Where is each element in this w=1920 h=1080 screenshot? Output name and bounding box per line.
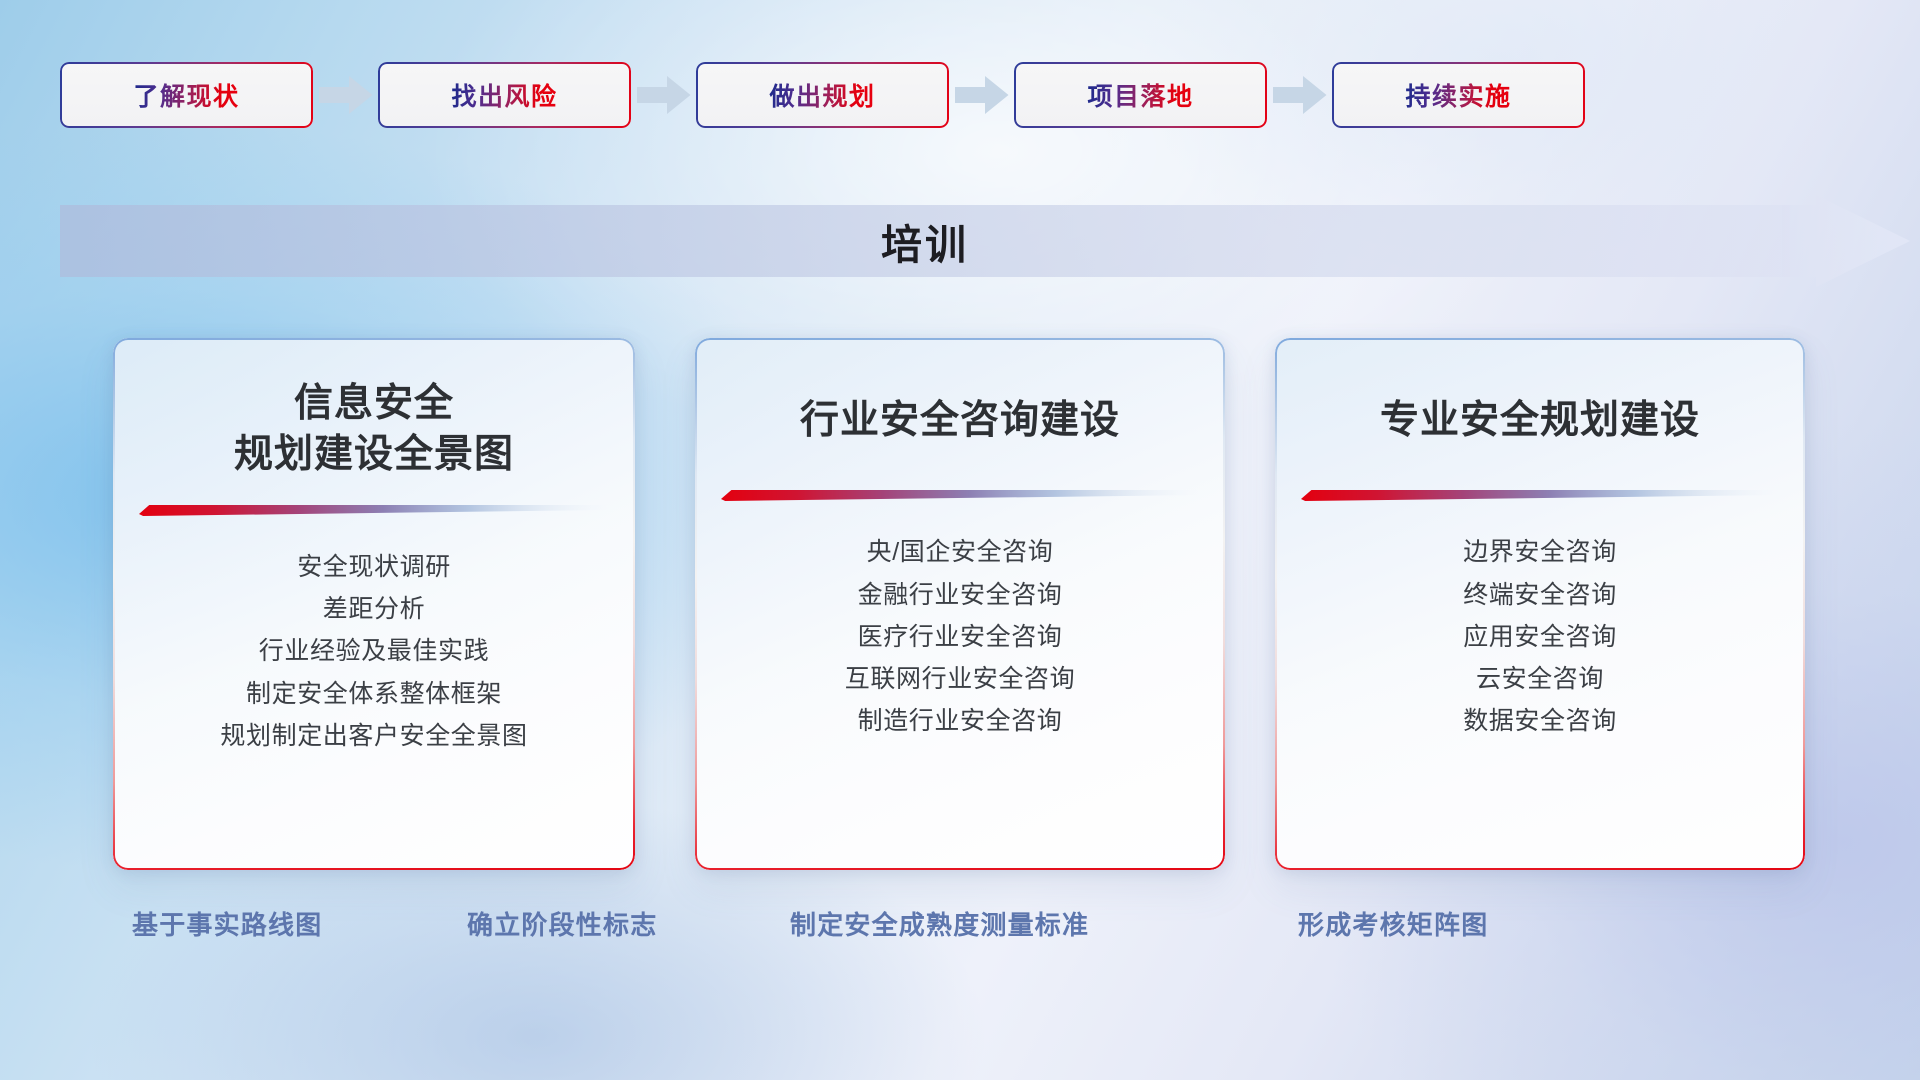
card-list-item: 金融行业安全咨询 xyxy=(858,575,1063,616)
card-title: 专业安全规划建设 xyxy=(1380,395,1700,446)
process-step-0[interactable]: 了解现状 xyxy=(60,62,313,128)
process-step-2[interactable]: 做出规划 xyxy=(696,62,949,128)
banner-arrow-tip-icon xyxy=(1782,195,1912,287)
footnote-1: 确立阶段性标志 xyxy=(467,905,657,942)
card-row: 信息安全 规划建设全景图 xyxy=(0,338,1920,878)
footnote-0: 基于事实路线图 xyxy=(132,905,322,942)
card-list-item: 互联网行业安全咨询 xyxy=(845,659,1075,700)
card-title: 信息安全 规划建设全景图 xyxy=(234,378,514,481)
training-banner: 培训 xyxy=(60,205,1850,277)
card-list-item: 规划制定出客户安全全景图 xyxy=(220,716,527,757)
gradient-divider-icon xyxy=(721,488,1199,502)
process-step-4[interactable]: 持续实施 xyxy=(1332,62,1585,128)
gradient-divider-icon xyxy=(1301,488,1779,502)
card-list-item: 安全现状调研 xyxy=(297,547,451,588)
footnote-row: 基于事实路线图 确立阶段性标志 制定安全成熟度测量标准 形成考核矩阵图 xyxy=(0,905,1920,965)
card-list-item: 行业经验及最佳实践 xyxy=(259,631,489,672)
process-step-label: 了解现状 xyxy=(133,77,239,113)
card-list-item: 边界安全咨询 xyxy=(1463,532,1617,573)
slide-stage: 了解现状 找出风险 做出规划 项目落地 xyxy=(0,0,1920,1080)
card-title: 行业安全咨询建设 xyxy=(800,395,1120,446)
process-step-label: 做出规划 xyxy=(769,77,875,113)
card-list-item: 医疗行业安全咨询 xyxy=(858,617,1063,658)
card-list-item: 云安全咨询 xyxy=(1476,659,1604,700)
card-list-item: 数据安全咨询 xyxy=(1463,701,1617,742)
process-step-label: 持续实施 xyxy=(1405,77,1511,113)
card-list-item: 制造行业安全咨询 xyxy=(858,701,1063,742)
card-item-list: 安全现状调研 差距分析 行业经验及最佳实践 制定安全体系整体框架 规划制定出客户… xyxy=(139,547,609,757)
card-list-item: 差距分析 xyxy=(323,589,425,630)
arrow-right-icon xyxy=(1267,62,1332,128)
gradient-divider-icon xyxy=(139,503,609,517)
process-step-label: 找出风险 xyxy=(451,77,557,113)
card-item-list: 央/国企安全咨询 金融行业安全咨询 医疗行业安全咨询 互联网行业安全咨询 制造行… xyxy=(721,532,1199,742)
process-step-row: 了解现状 找出风险 做出规划 项目落地 xyxy=(60,62,1860,128)
training-banner-title: 培训 xyxy=(60,205,1790,277)
footnote-3: 形成考核矩阵图 xyxy=(1298,905,1488,942)
card-item-list: 边界安全咨询 终端安全咨询 应用安全咨询 云安全咨询 数据安全咨询 xyxy=(1301,532,1779,742)
capability-card-0[interactable]: 信息安全 规划建设全景图 xyxy=(113,338,635,870)
process-step-3[interactable]: 项目落地 xyxy=(1014,62,1267,128)
arrow-right-icon xyxy=(949,62,1014,128)
card-list-item: 终端安全咨询 xyxy=(1463,575,1617,616)
process-step-1[interactable]: 找出风险 xyxy=(378,62,631,128)
arrow-right-icon xyxy=(313,62,378,128)
capability-card-1[interactable]: 行业安全咨询建设 xyxy=(695,338,1225,870)
footnote-2: 制定安全成熟度测量标准 xyxy=(790,905,1089,942)
card-list-item: 制定安全体系整体框架 xyxy=(246,674,502,715)
process-step-label: 项目落地 xyxy=(1087,77,1193,113)
capability-card-2[interactable]: 专业安全规划建设 xyxy=(1275,338,1805,870)
arrow-right-icon xyxy=(631,62,696,128)
card-list-item: 央/国企安全咨询 xyxy=(867,532,1054,573)
card-list-item: 应用安全咨询 xyxy=(1463,617,1617,658)
